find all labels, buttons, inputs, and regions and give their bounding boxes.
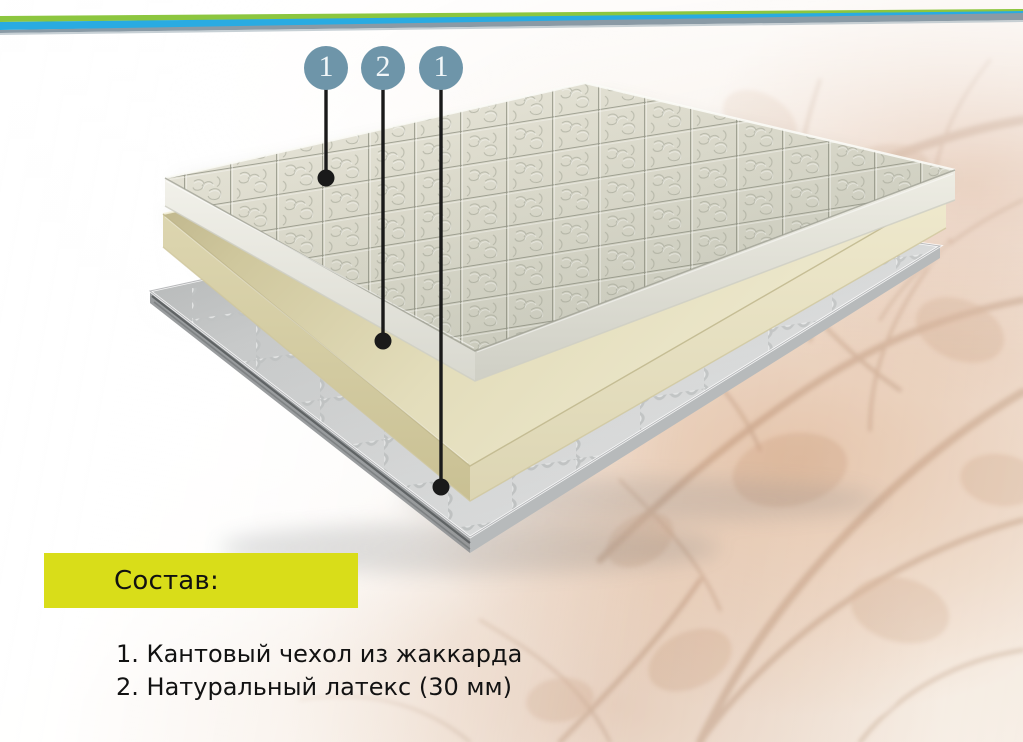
composition-list-item-2: 2. Натуральный латекс (30 мм) bbox=[116, 671, 636, 704]
callout-badge-2[interactable]: 2 bbox=[361, 46, 405, 90]
composition-list-item-1: 1. Кантовый чехол из жаккарда bbox=[116, 638, 636, 671]
callout-badge-2-label: 2 bbox=[376, 52, 391, 82]
callout-badge-1-label: 1 bbox=[319, 52, 334, 82]
infographic-canvas: 1 2 1 Состав: 1. Кантовый чехол из жакка… bbox=[0, 0, 1023, 742]
callout-badge-3-label: 1 bbox=[434, 52, 449, 82]
callout-badge-3[interactable]: 1 bbox=[419, 46, 463, 90]
composition-banner: Состав: bbox=[44, 553, 358, 608]
composition-list: 1. Кантовый чехол из жаккарда 2. Натурал… bbox=[116, 638, 636, 704]
background-top-veil bbox=[0, 0, 1023, 742]
composition-banner-label: Состав: bbox=[114, 566, 219, 596]
callout-badge-1[interactable]: 1 bbox=[304, 46, 348, 90]
